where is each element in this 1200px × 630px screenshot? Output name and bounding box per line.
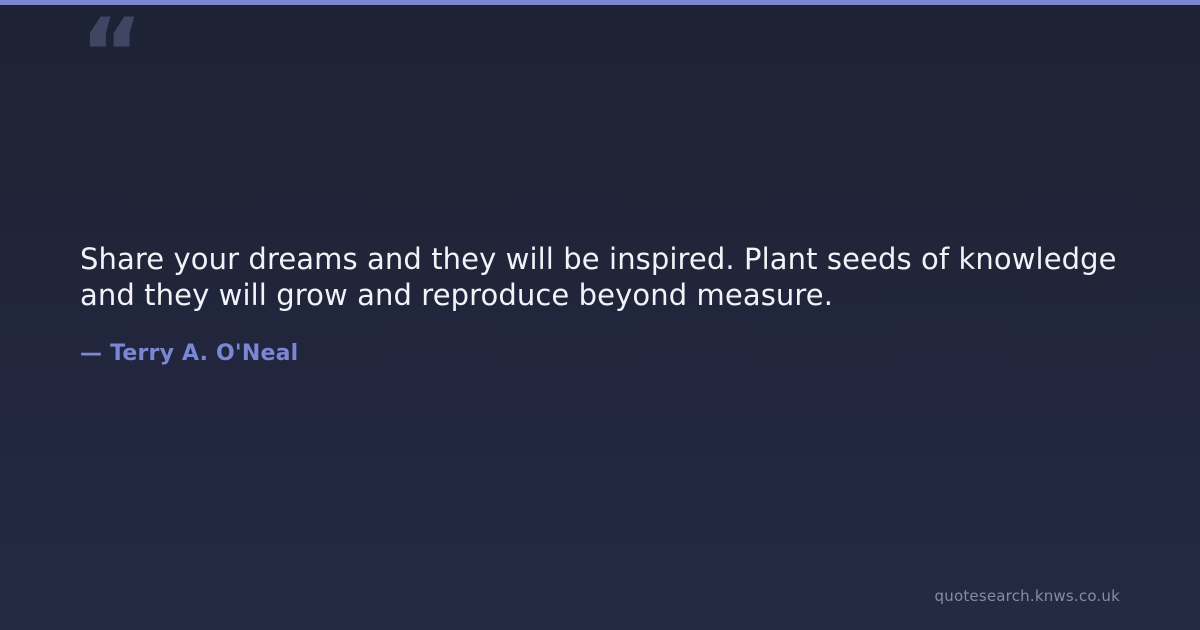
quote-body: Share your dreams and they will be inspi… (80, 241, 1120, 313)
quote-card: “ Share your dreams and they will be ins… (0, 0, 1200, 630)
attribution-author: Terry A. O'Neal (110, 341, 298, 366)
quote-text: Share your dreams and they will be inspi… (80, 241, 1120, 313)
top-accent-bar (0, 0, 1200, 5)
quote-attribution: — Terry A. O'Neal (80, 340, 298, 368)
attribution-dash: — (80, 341, 102, 366)
site-watermark: quotesearch.knws.co.uk (935, 586, 1120, 606)
open-quote-icon: “ (80, 6, 141, 102)
